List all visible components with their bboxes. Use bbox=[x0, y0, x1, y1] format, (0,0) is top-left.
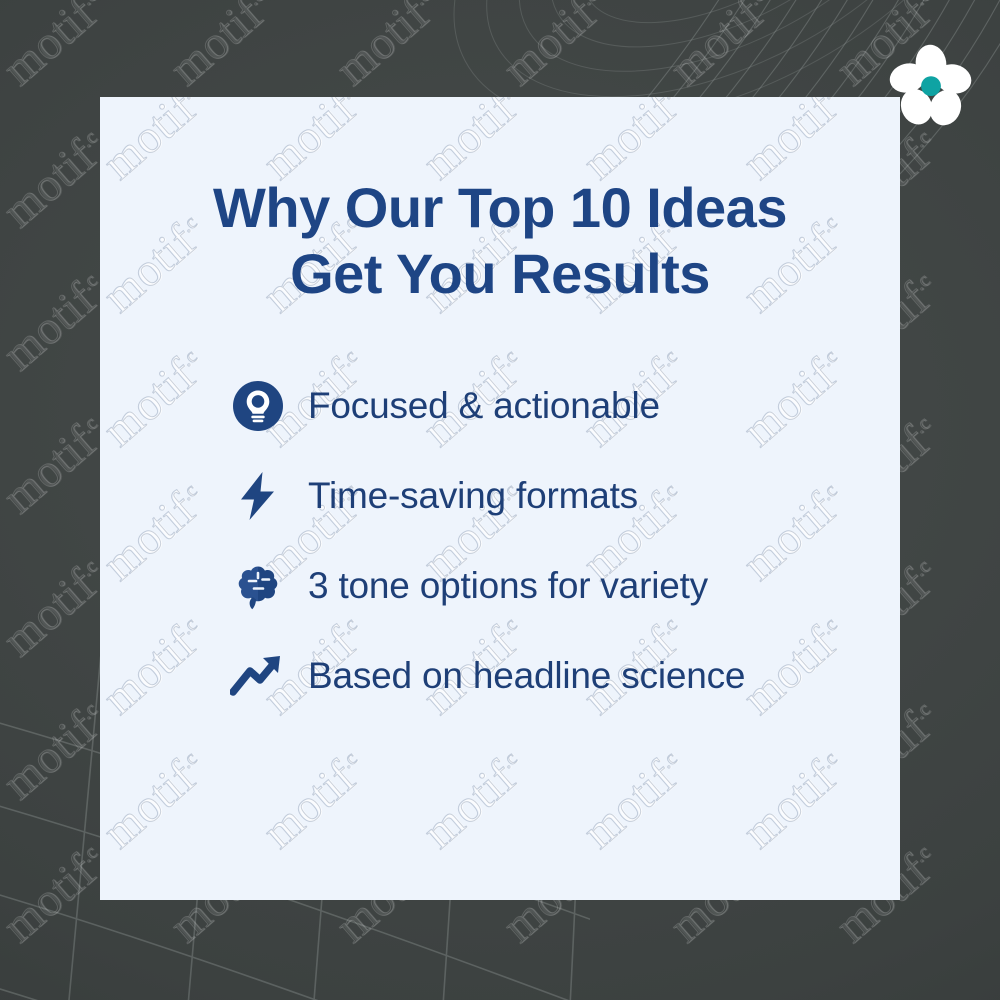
list-item: Focused & actionable bbox=[230, 372, 860, 440]
content-card: motif.c motif.c motif.c motif.c motif.c … bbox=[100, 97, 900, 900]
headline-line-2: Get You Results bbox=[100, 241, 900, 307]
list-item: 3 tone options for variety bbox=[230, 552, 860, 620]
poster-canvas: motif.c motif.c motif.c motif.c motif.c … bbox=[0, 0, 1000, 1000]
benefits-list: Focused & actionable Time-saving formats bbox=[230, 372, 860, 732]
lightning-bolt-icon bbox=[230, 468, 286, 524]
lightbulb-icon bbox=[230, 378, 286, 434]
list-item-label: Based on headline science bbox=[308, 656, 745, 697]
list-item-label: 3 tone options for variety bbox=[308, 566, 708, 607]
flower-logo-icon bbox=[886, 42, 976, 132]
list-item-label: Focused & actionable bbox=[308, 386, 660, 427]
list-item: Time-saving formats bbox=[230, 462, 860, 530]
headline-line-1: Why Our Top 10 Ideas bbox=[213, 176, 787, 239]
list-item-label: Time-saving formats bbox=[308, 476, 638, 517]
brain-icon bbox=[230, 558, 286, 614]
trending-up-icon bbox=[230, 648, 286, 704]
page-title: Why Our Top 10 Ideas Get You Results bbox=[100, 175, 900, 307]
list-item: Based on headline science bbox=[230, 642, 860, 710]
